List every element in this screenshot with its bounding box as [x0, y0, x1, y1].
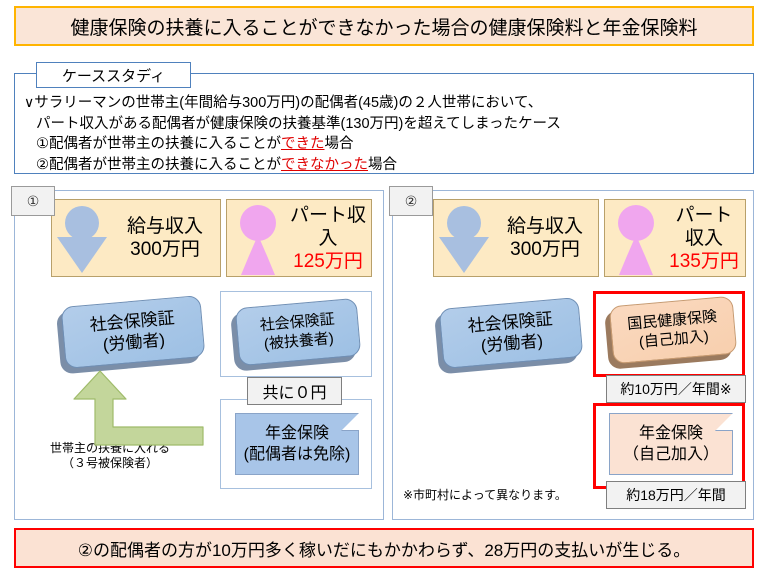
case-1-salary-income-card: 給与収入 300万円 — [51, 199, 221, 277]
male-person-icon — [52, 203, 114, 273]
case-2-salary-amount: 300万円 — [496, 238, 594, 261]
case-2-badge: ② — [389, 186, 433, 216]
case-2-worker-insurance-card: 社会保険証 (労働者) — [441, 303, 581, 363]
case-study-line-1: ∨サラリーマンの世帯主(年間給与300万円)の配偶者(45歳)の２人世帯において… — [24, 92, 750, 114]
case-2-part-amount: 135万円 — [667, 250, 741, 273]
case-2-part-income-card: パート収入 135万円 — [604, 199, 746, 277]
case-1-prefix: ①配偶者が世帯主の扶養に入ることが — [36, 136, 281, 152]
case-1-pension-line-1: 年金保険 — [265, 423, 329, 444]
case-2-part-label: パート収入 — [667, 204, 741, 250]
check-marker-icon: ∨ — [24, 94, 34, 110]
case-1-part-amount: 125万円 — [289, 250, 367, 273]
case-2-salary-income-card: 給与収入 300万円 — [433, 199, 599, 277]
case-study-line-2: パート収入がある配偶者が健康保険の扶養基準(130万円)を超えてしまったケース — [24, 114, 750, 135]
case-2-prefix: ②配偶者が世帯主の扶養に入ることが — [36, 157, 281, 173]
case-2-pension-line-2: （自己加入） — [623, 444, 719, 465]
case-1-highlight: できた — [281, 136, 325, 152]
case-2-salary-label: 給与収入 — [496, 215, 594, 238]
case-1-suffix: 場合 — [325, 136, 354, 152]
case-2-health-cost-tag: 約10万円／年間※ — [606, 375, 746, 403]
case-study-body: ∨サラリーマンの世帯主(年間給与300万円)の配偶者(45歳)の２人世帯において… — [24, 92, 750, 175]
female-person-icon — [227, 203, 289, 273]
case-1-part-label: パート収入 — [289, 204, 367, 250]
case-1-both-zero-tag: 共に０円 — [247, 377, 342, 405]
folded-corner-icon — [341, 413, 359, 431]
case-study-section: ケーススタディ ∨サラリーマンの世帯主(年間給与300万円)の配偶者(45歳)の… — [14, 62, 754, 174]
case-study-line-1-text: サラリーマンの世帯主(年間給与300万円)の配偶者(45歳)の２人世帯において、 — [34, 95, 542, 111]
case-2-health-insurance-card: 国民健康保険 (自己加入) — [611, 301, 735, 359]
dependency-arrow-icon — [60, 369, 205, 449]
case-2-pension-line-1: 年金保険 — [639, 423, 703, 444]
case-1-dependent-insurance-card: 社会保険証 (被扶養者) — [237, 303, 359, 361]
case-study-case-1: ①配偶者が世帯主の扶養に入ることができた場合 — [24, 134, 750, 155]
case-1-worker-insurance-card: 社会保険証 (労働者) — [63, 301, 203, 363]
case-1-salary-label: 給与収入 — [114, 215, 216, 238]
case-2-suffix: 場合 — [368, 157, 397, 173]
case-2-pension-cost-tag: 約18万円／年間 — [606, 481, 746, 509]
case-study-tab-label: ケーススタディ — [36, 62, 191, 88]
case-2-highlight: できなかった — [281, 157, 368, 173]
case-1-pension-box: 年金保険 (配偶者は免除) — [235, 413, 359, 475]
case-2-pension-box: 年金保険 （自己加入） — [609, 413, 733, 475]
female-person-icon — [605, 203, 667, 273]
slide-title-bar: 健康保険の扶養に入ることができなかった場合の健康保険料と年金保険料 — [14, 6, 754, 46]
case-1-arrow-note-line-2: （３号被保険者） — [25, 456, 195, 471]
male-person-icon — [434, 203, 496, 273]
case-1-part-income-card: パート収入 125万円 — [226, 199, 372, 277]
case-2-footnote: ※市町村によって異なります。 — [403, 486, 567, 503]
conclusion-banner: ②の配偶者の方が10万円多く稼いだにもかかわらず、28万円の支払いが生じる。 — [14, 528, 754, 568]
case-1-panel: ① 給与収入 300万円 パート収入 125万円 社会保険 — [14, 190, 384, 520]
case-1-worker-card-line-2: (労働者) — [102, 329, 166, 355]
case-1-salary-amount: 300万円 — [114, 238, 216, 261]
folded-corner-icon — [715, 413, 733, 431]
page-title: 健康保険の扶養に入ることができなかった場合の健康保険料と年金保険料 — [70, 13, 697, 40]
case-1-pension-line-2: (配偶者は免除) — [244, 444, 351, 465]
case-study-case-2: ②配偶者が世帯主の扶養に入ることができなかった場合 — [24, 155, 750, 176]
case-1-badge: ① — [11, 186, 55, 216]
case-2-worker-card-line-2: (労働者) — [480, 330, 544, 356]
case-2-panel: ② 給与収入 300万円 パート収入 135万円 社会保険 — [392, 190, 754, 520]
slide-canvas: 健康保険の扶養に入ることができなかった場合の健康保険料と年金保険料 ケーススタデ… — [0, 0, 768, 576]
